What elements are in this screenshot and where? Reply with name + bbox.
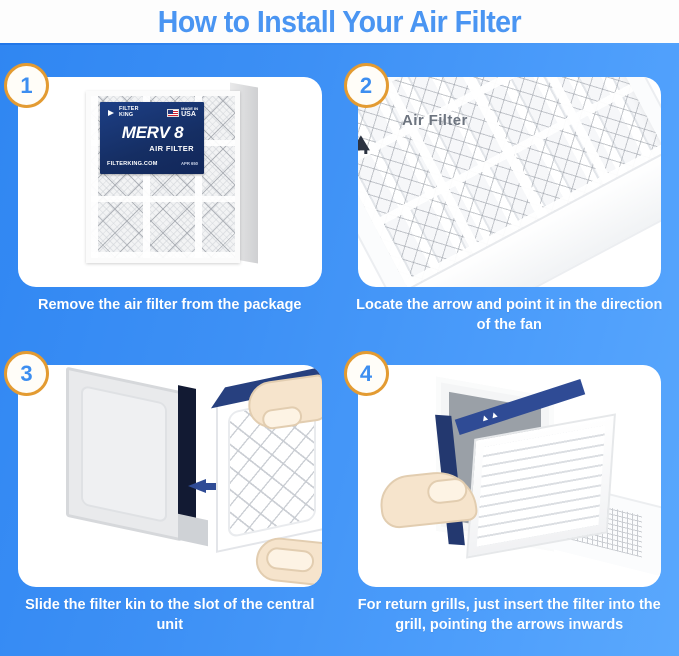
king-bird-icon — [107, 108, 117, 118]
filter-front-face: FILTER KING MADE IN USA — [86, 91, 240, 263]
merv-rating: MERV 8 — [107, 123, 198, 143]
made-in-usa-text: MADE IN USA — [181, 107, 198, 118]
step-card-2: Air Filter 2 Locate the arrow and point … — [340, 45, 679, 345]
filter-king-logo: FILTER KING — [107, 107, 139, 118]
made-in-usa-mark: MADE IN USA — [167, 107, 198, 118]
country-text: USA — [181, 111, 198, 118]
central-unit-body — [66, 367, 182, 542]
step-2-image-card: Air Filter — [358, 77, 662, 287]
step-number-badge-3: 3 — [4, 351, 49, 396]
page-title: How to Install Your Air Filter — [158, 6, 521, 37]
label-footer: FILTERKING.COM APR 650 — [107, 161, 198, 167]
arrow-head — [188, 479, 206, 493]
brand-text: FILTER KING — [119, 107, 139, 118]
airflow-arrow-tail — [364, 148, 367, 154]
step-caption-4: For return grills, just insert the filte… — [356, 595, 664, 635]
step-4-artwork: ▲▲ — [358, 365, 662, 587]
step-card-3: 3 Slide the filter kin to the slot of th… — [0, 345, 340, 656]
filter-slot-lip — [178, 514, 208, 546]
infographic-page: How to Install Your Air Filter — [0, 0, 679, 656]
step-card-1: FILTER KING MADE IN USA — [0, 45, 340, 345]
usa-flag-icon — [167, 109, 179, 117]
step-2-artwork: Air Filter — [358, 77, 662, 287]
hand-lower-icon — [253, 535, 321, 586]
brand-line-2: KING — [119, 112, 133, 118]
step-card-4: ▲▲ 4 For return grills, just insert the … — [340, 345, 679, 656]
filter-brand-label: FILTER KING MADE IN USA — [100, 102, 204, 174]
step-3-artwork — [18, 365, 322, 587]
step-caption-1: Remove the air filter from the package — [16, 295, 324, 315]
step-number-badge-4: 4 — [344, 351, 389, 396]
air-filter-photo: FILTER KING MADE IN USA — [80, 83, 270, 273]
step-1-artwork: FILTER KING MADE IN USA — [18, 77, 322, 287]
label-top-row: FILTER KING MADE IN USA — [107, 107, 198, 118]
step-1-image-card: FILTER KING MADE IN USA — [18, 77, 322, 287]
header-bar: How to Install Your Air Filter — [0, 0, 679, 45]
apr-rating: APR 650 — [181, 161, 198, 166]
step-caption-3: Slide the filter kin to the slot of the … — [16, 595, 324, 635]
label-subtitle: AIR FILTER — [107, 144, 198, 153]
website-text: FILTERKING.COM — [107, 161, 158, 167]
filter-corner-photo: Air Filter — [358, 77, 662, 287]
step-number-badge-1: 1 — [4, 63, 49, 108]
steps-grid: FILTER KING MADE IN USA — [0, 45, 679, 656]
grill-louvers — [476, 425, 605, 546]
central-unit-panel — [81, 385, 167, 523]
step-caption-2: Locate the arrow and point it in the dir… — [356, 295, 664, 335]
step-3-image-card — [18, 365, 322, 587]
step-number-badge-2: 2 — [344, 63, 389, 108]
air-filter-side-text: Air Filter — [402, 112, 468, 129]
step-4-image-card: ▲▲ — [358, 365, 662, 587]
